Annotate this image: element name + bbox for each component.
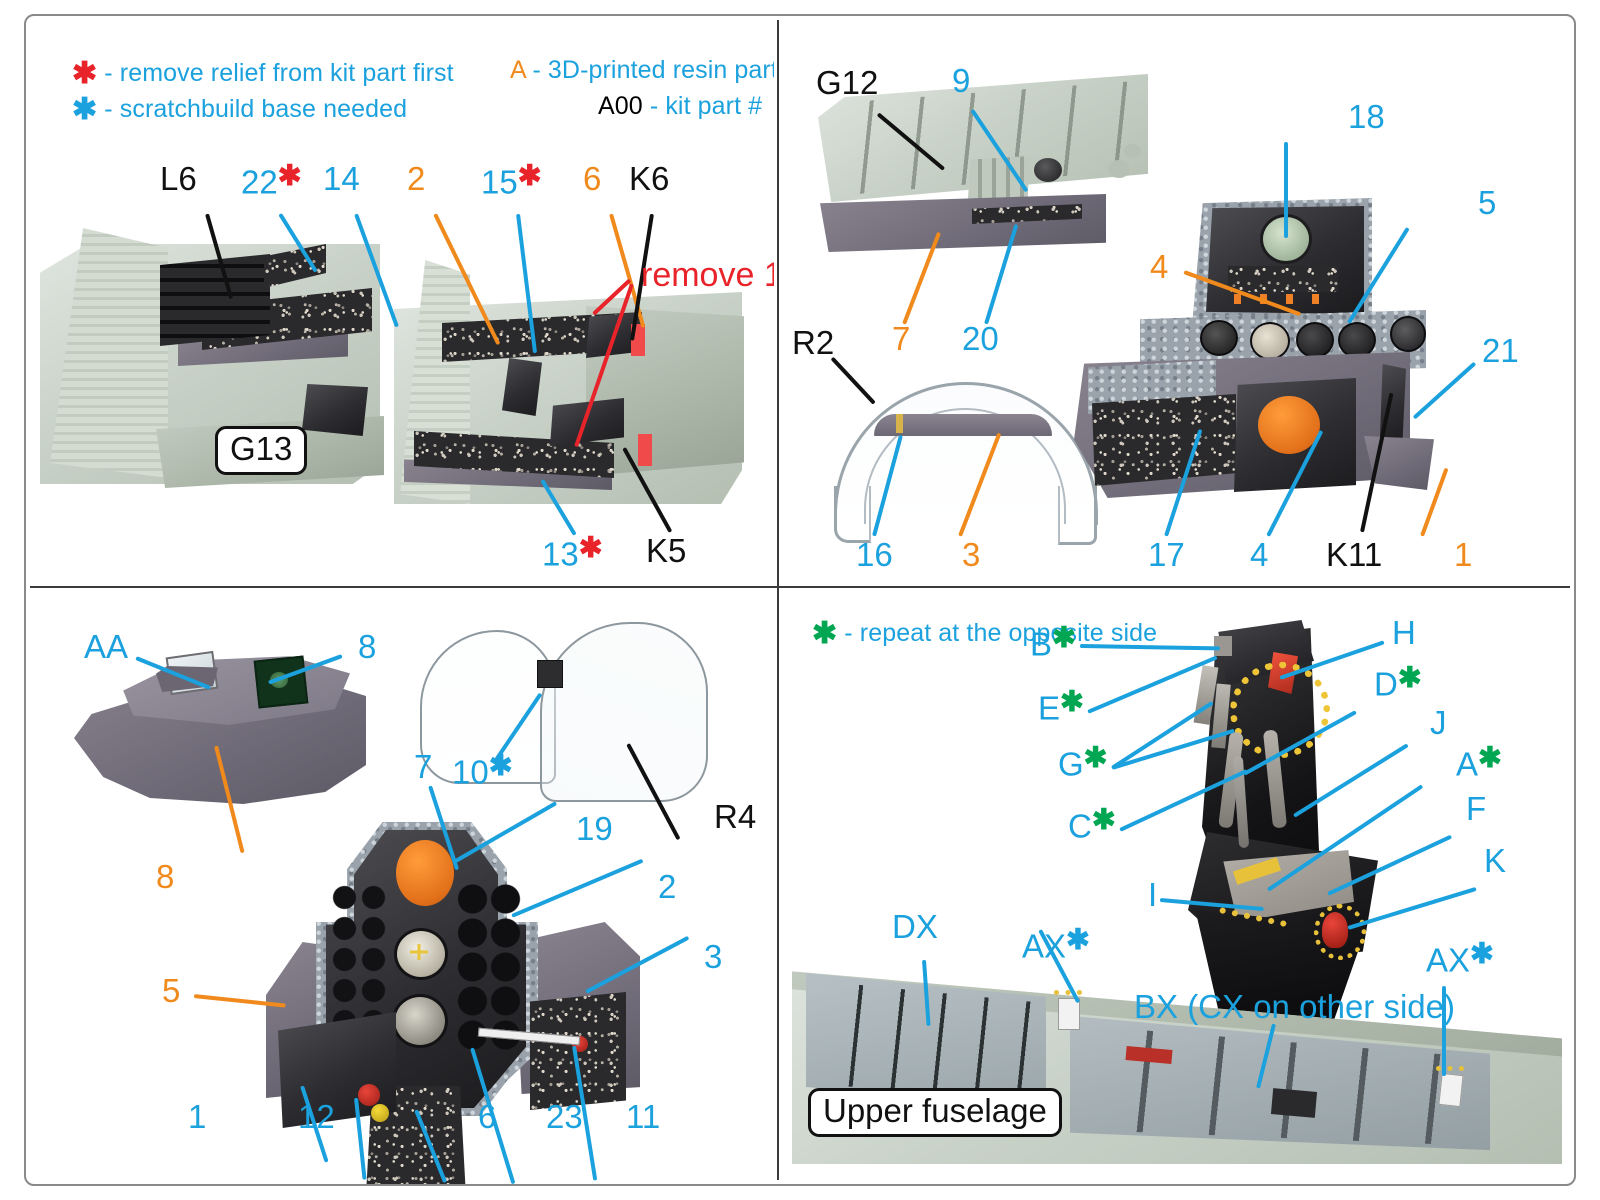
part-k-yellow-ring (1314, 904, 1366, 960)
label-f: F (1466, 792, 1486, 825)
label-dx: DX (892, 910, 938, 943)
label-j: J (1430, 706, 1447, 739)
ip-right-gauge-cluster (456, 882, 522, 1052)
instruction-sheet: ✱ - remove relief from kit part first ✱ … (0, 0, 1600, 1200)
leader-2-ip (511, 859, 643, 918)
leader-r2 (831, 357, 876, 405)
label-1-ip: 1 (188, 1100, 206, 1133)
label-3: 3 (962, 538, 980, 571)
tub-notch-black (302, 384, 368, 436)
label-h: H (1392, 616, 1416, 649)
legend-row-2: ✱ - scratchbuild base needed (72, 92, 407, 127)
ip-upper-switchrow (1228, 266, 1338, 292)
part-7-radar-scope (396, 840, 454, 906)
panel-divider-vertical (777, 20, 779, 1180)
legend-text-3: - 3D-printed resin part (532, 56, 774, 84)
ip-gauge-b (1250, 322, 1290, 360)
part-10-pe-mirror (537, 660, 563, 688)
label-g: G✱ (1058, 744, 1107, 781)
panel-ejection-seat-fuselage: ✱ - repeat at the opposite side (782, 592, 1574, 1184)
label-ax-left: AX✱ (1022, 926, 1090, 963)
label-5: 5 (1478, 186, 1496, 219)
label-ax-right: AX✱ (1426, 940, 1494, 977)
label-16: 16 (856, 538, 893, 571)
ip-yellow-marker (371, 1104, 389, 1122)
label-1: 1 (1454, 538, 1472, 571)
label-22: 22✱ (241, 162, 302, 199)
label-14: 14 (323, 162, 360, 195)
part-16-pe-tab (896, 414, 903, 433)
r2-leg-left (834, 486, 871, 543)
part-17-pe-left (1092, 394, 1236, 486)
part-box-upper-fuselage: Upper fuselage (808, 1088, 1062, 1137)
label-10: 10✱ (452, 752, 513, 789)
legend-asterisk-green: ✱ (812, 617, 837, 650)
label-2: 2 (407, 162, 425, 195)
legend-repeat-text: - repeat at the opposite side (844, 619, 1157, 647)
panel-glareshield-instrument-panel: AA 8 8 10✱ R4 7 19 2 3 5 1 12 6 23 11 (26, 592, 774, 1184)
leader-g1 (1111, 701, 1214, 770)
label-i: I (1148, 878, 1157, 911)
label-6: 6 (583, 162, 601, 195)
label-d: D✱ (1374, 664, 1422, 701)
label-18: 18 (1348, 100, 1385, 133)
label-b: B✱ (1030, 624, 1076, 661)
label-4-lower: 4 (1250, 538, 1268, 571)
label-r2: R2 (792, 326, 834, 359)
legend-text-1: - remove relief from kit part first (104, 59, 453, 87)
label-c: C✱ (1068, 806, 1116, 843)
kit-part-l6-box (160, 254, 270, 346)
legend-tag-resin: A (510, 56, 525, 84)
part-5-gauge (1390, 316, 1426, 352)
part-box-g13: G13 (215, 426, 307, 475)
label-r4: R4 (714, 800, 756, 833)
leader-18 (1284, 142, 1288, 238)
panel-coaming-instrument: G12 9 18 5 4 7 20 R2 16 3 17 4 K11 1 21 (782, 16, 1574, 582)
label-aa: AA (84, 630, 128, 663)
label-k11: K11 (1326, 538, 1382, 571)
label-7-ip: 7 (414, 750, 432, 783)
label-21: 21 (1482, 334, 1519, 367)
legend-row-4: A00 - kit part # (598, 92, 762, 121)
ip-adi-cross (410, 944, 428, 960)
ip-gauge-a (1200, 320, 1238, 356)
label-23: 23 (546, 1100, 583, 1133)
note-remove-15mm: remove 1,5 mm (641, 256, 774, 294)
label-a: A✱ (1456, 744, 1502, 781)
legend-tag-kitpart: A00 (598, 92, 643, 120)
label-8-resin: 8 (156, 860, 174, 893)
label-9: 9 (952, 64, 970, 97)
legend-asterisk-red: ✱ (72, 57, 97, 90)
part-9-dial (1034, 158, 1062, 182)
part-7-resin-base (820, 194, 1106, 252)
label-2-ip: 2 (658, 870, 676, 903)
part-12-red-knob (358, 1084, 380, 1106)
legend-row-3: A - 3D-printed resin part (510, 56, 774, 85)
label-15: 15✱ (481, 162, 542, 199)
ip-left-gauge-cluster (330, 882, 388, 1032)
remove-mark-lower (638, 434, 652, 466)
g12-bulge-2 (1124, 144, 1141, 158)
label-7: 7 (892, 322, 910, 355)
label-5-ip: 5 (162, 974, 180, 1007)
label-4-upper: 4 (1150, 250, 1168, 283)
legend-text-2: - scratchbuild base needed (104, 95, 407, 123)
g12-bulge-1 (1108, 160, 1130, 178)
label-8-pe: 8 (358, 630, 376, 663)
ip-hsi-gauge (392, 994, 448, 1048)
label-3-ip: 3 (704, 940, 722, 973)
label-20: 20 (962, 322, 999, 355)
label-12: 12 (298, 1100, 335, 1133)
legend-row-1: ✱ - remove relief from kit part first (72, 56, 454, 91)
label-17: 17 (1148, 538, 1185, 571)
leader-21 (1413, 362, 1477, 420)
label-e: E✱ (1038, 688, 1084, 725)
label-11: 11 (626, 1100, 660, 1133)
legend-text-4: - kit part # (650, 92, 762, 120)
label-13: 13✱ (542, 534, 603, 571)
fuselage-equipment-dark (1271, 1088, 1317, 1118)
label-19: 19 (576, 812, 613, 845)
label-bx-note: BX (CX on other side) (1134, 990, 1455, 1023)
r2-leg-right (1058, 486, 1097, 545)
label-6-ip: 6 (478, 1100, 496, 1133)
part-ax-clip-right-ring (1436, 1066, 1464, 1087)
label-k5: K5 (646, 534, 686, 567)
panel-cockpit-tub: ✱ - remove relief from kit part first ✱ … (26, 16, 774, 582)
legend-asterisk-cyan: ✱ (72, 93, 97, 126)
label-l6: L6 (160, 162, 197, 195)
label-k6: K6 (629, 162, 669, 195)
label-g12: G12 (816, 66, 878, 99)
ip-gauge-d (1338, 322, 1376, 358)
panel-divider-horizontal (30, 586, 1570, 588)
tub-right-black-mount (502, 358, 542, 416)
label-k: K (1484, 844, 1506, 877)
ip-gauge-c (1296, 322, 1334, 358)
part-r4-canopy-right (540, 622, 708, 802)
